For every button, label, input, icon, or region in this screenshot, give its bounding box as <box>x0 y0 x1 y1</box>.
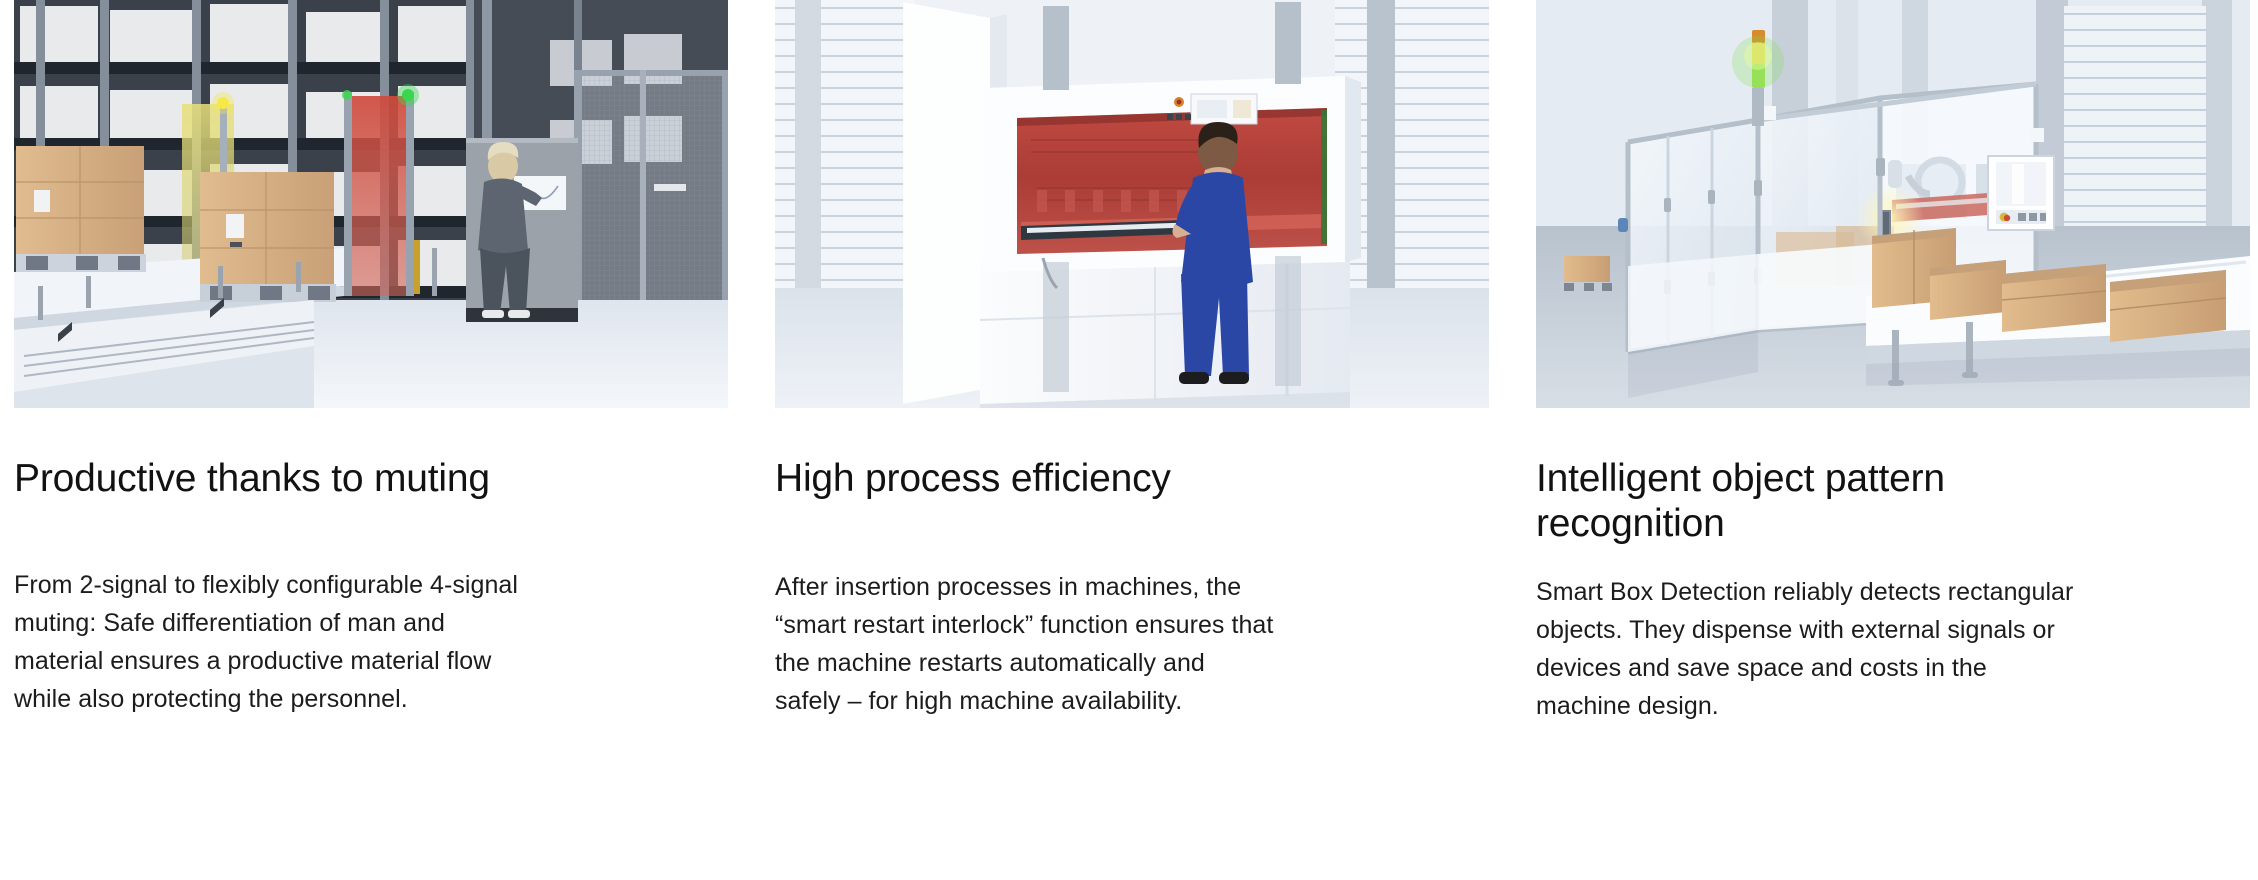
feature-heading-process-efficiency: High process efficiency <box>775 456 1475 501</box>
robot-cell-box-detection-illustration <box>1536 0 2250 408</box>
feature-column-object-pattern-recognition: Intelligent object pattern recognition S… <box>1536 0 2250 725</box>
feature-image-process-efficiency <box>775 0 1489 408</box>
feature-body-object-pattern-recognition: Smart Box Detection reliably detects rec… <box>1536 573 2076 725</box>
feature-columns: Productive thanks to muting From 2-signa… <box>14 0 2244 725</box>
feature-body-muting: From 2-signal to flexibly configurable 4… <box>14 566 534 718</box>
feature-image-object-pattern-recognition <box>1536 0 2250 408</box>
feature-column-process-efficiency: High process efficiency After insertion … <box>775 0 1489 725</box>
feature-heading-object-pattern-recognition: Intelligent object pattern recognition <box>1536 456 2096 546</box>
feature-body-process-efficiency: After insertion processes in machines, t… <box>775 568 1275 720</box>
machine-restart-interlock-illustration <box>775 0 1489 408</box>
feature-grid-page: Productive thanks to muting From 2-signa… <box>0 0 2258 880</box>
feature-heading-muting: Productive thanks to muting <box>14 456 714 501</box>
warehouse-muting-illustration <box>14 0 728 408</box>
feature-column-muting: Productive thanks to muting From 2-signa… <box>14 0 728 725</box>
feature-image-muting <box>14 0 728 408</box>
